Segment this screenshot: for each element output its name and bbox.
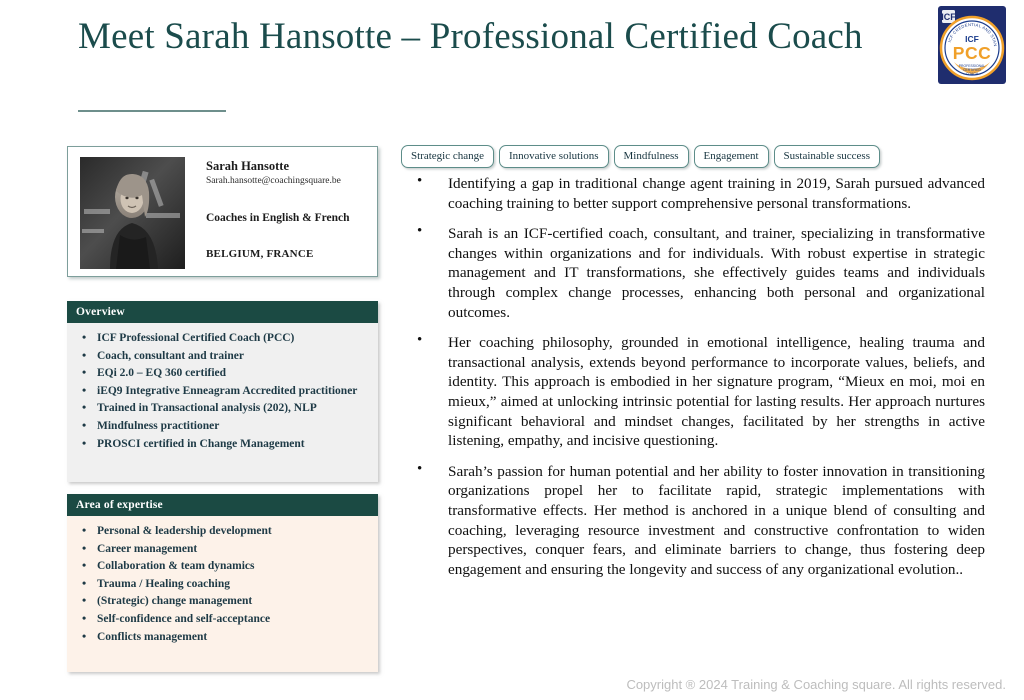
biography-content: Identifying a gap in traditional change … [405,174,985,590]
tag-pill-row: Strategic changeInnovative solutionsMind… [401,145,880,168]
overview-list-item: Trained in Transactional analysis (202),… [73,401,372,417]
biography-paragraph: Identifying a gap in traditional change … [405,174,985,213]
profile-languages: Coaches in English & French [206,212,369,224]
overview-list-item: Coach, consultant and trainer [73,349,372,365]
expertise-list-item: Conflicts management [73,630,372,646]
avatar [80,157,185,269]
profile-card: Sarah Hansotte Sarah.hansotte@coachingsq… [67,146,378,277]
biography-paragraph: Sarah is an ICF-certified coach, consult… [405,224,985,322]
profile-email[interactable]: Sarah.hansotte@coachingsquare.be [206,175,369,188]
overview-list-item: EQi 2.0 – EQ 360 certified [73,366,372,382]
svg-text:COACH: COACH [966,72,979,76]
tag-pill[interactable]: Mindfulness [614,145,689,168]
overview-list-item: ICF Professional Certified Coach (PCC) [73,331,372,347]
overview-list: ICF Professional Certified Coach (PCC)Co… [73,331,372,452]
overview-list-item: Mindfulness practitioner [73,419,372,435]
biography-paragraph: Her coaching philosophy, grounded in emo… [405,333,985,451]
profile-countries: BELGIUM, FRANCE [206,248,369,260]
expertise-header: Area of expertise [67,494,378,516]
biography-bullet-list: Identifying a gap in traditional change … [405,174,985,579]
expertise-box: Area of expertise Personal & leadership … [67,494,378,672]
expertise-list-item: Personal & leadership development [73,524,372,540]
expertise-list-item: Career management [73,542,372,558]
biography-paragraph: Sarah’s passion for human potential and … [405,462,985,580]
icf-pcc-credential-badge: ICF ICF CREDENTIAL AND STANDARDS ICF PCC… [934,4,1010,88]
overview-list-item: iEQ9 Integrative Enneagram Accredited pr… [73,384,372,400]
page-title: Meet Sarah Hansotte – Professional Certi… [78,14,868,60]
tag-pill[interactable]: Innovative solutions [499,145,609,168]
tag-pill[interactable]: Sustainable success [774,145,880,168]
profile-info: Sarah Hansotte Sarah.hansotte@coachingsq… [206,159,369,260]
footer-copyright: Copyright ® 2024 Training & Coaching squ… [0,677,1006,692]
profile-name: Sarah Hansotte [206,159,369,174]
overview-list-item: PROSCI certified in Change Management [73,437,372,453]
expertise-list-item: Collaboration & team dynamics [73,559,372,575]
tag-pill[interactable]: Engagement [694,145,769,168]
overview-box: Overview ICF Professional Certified Coac… [67,301,378,482]
svg-text:PCC: PCC [953,43,991,63]
overview-header: Overview [67,301,378,323]
expertise-list-item: Self-confidence and self-acceptance [73,612,372,628]
expertise-body: Personal & leadership developmentCareer … [67,516,378,672]
svg-text:ICF: ICF [941,12,956,22]
tag-pill[interactable]: Strategic change [401,145,494,168]
expertise-list: Personal & leadership developmentCareer … [73,524,372,645]
overview-body: ICF Professional Certified Coach (PCC)Co… [67,323,378,482]
expertise-list-item: Trauma / Healing coaching [73,577,372,593]
expertise-list-item: (Strategic) change management [73,594,372,610]
title-underline-rule [78,110,226,112]
